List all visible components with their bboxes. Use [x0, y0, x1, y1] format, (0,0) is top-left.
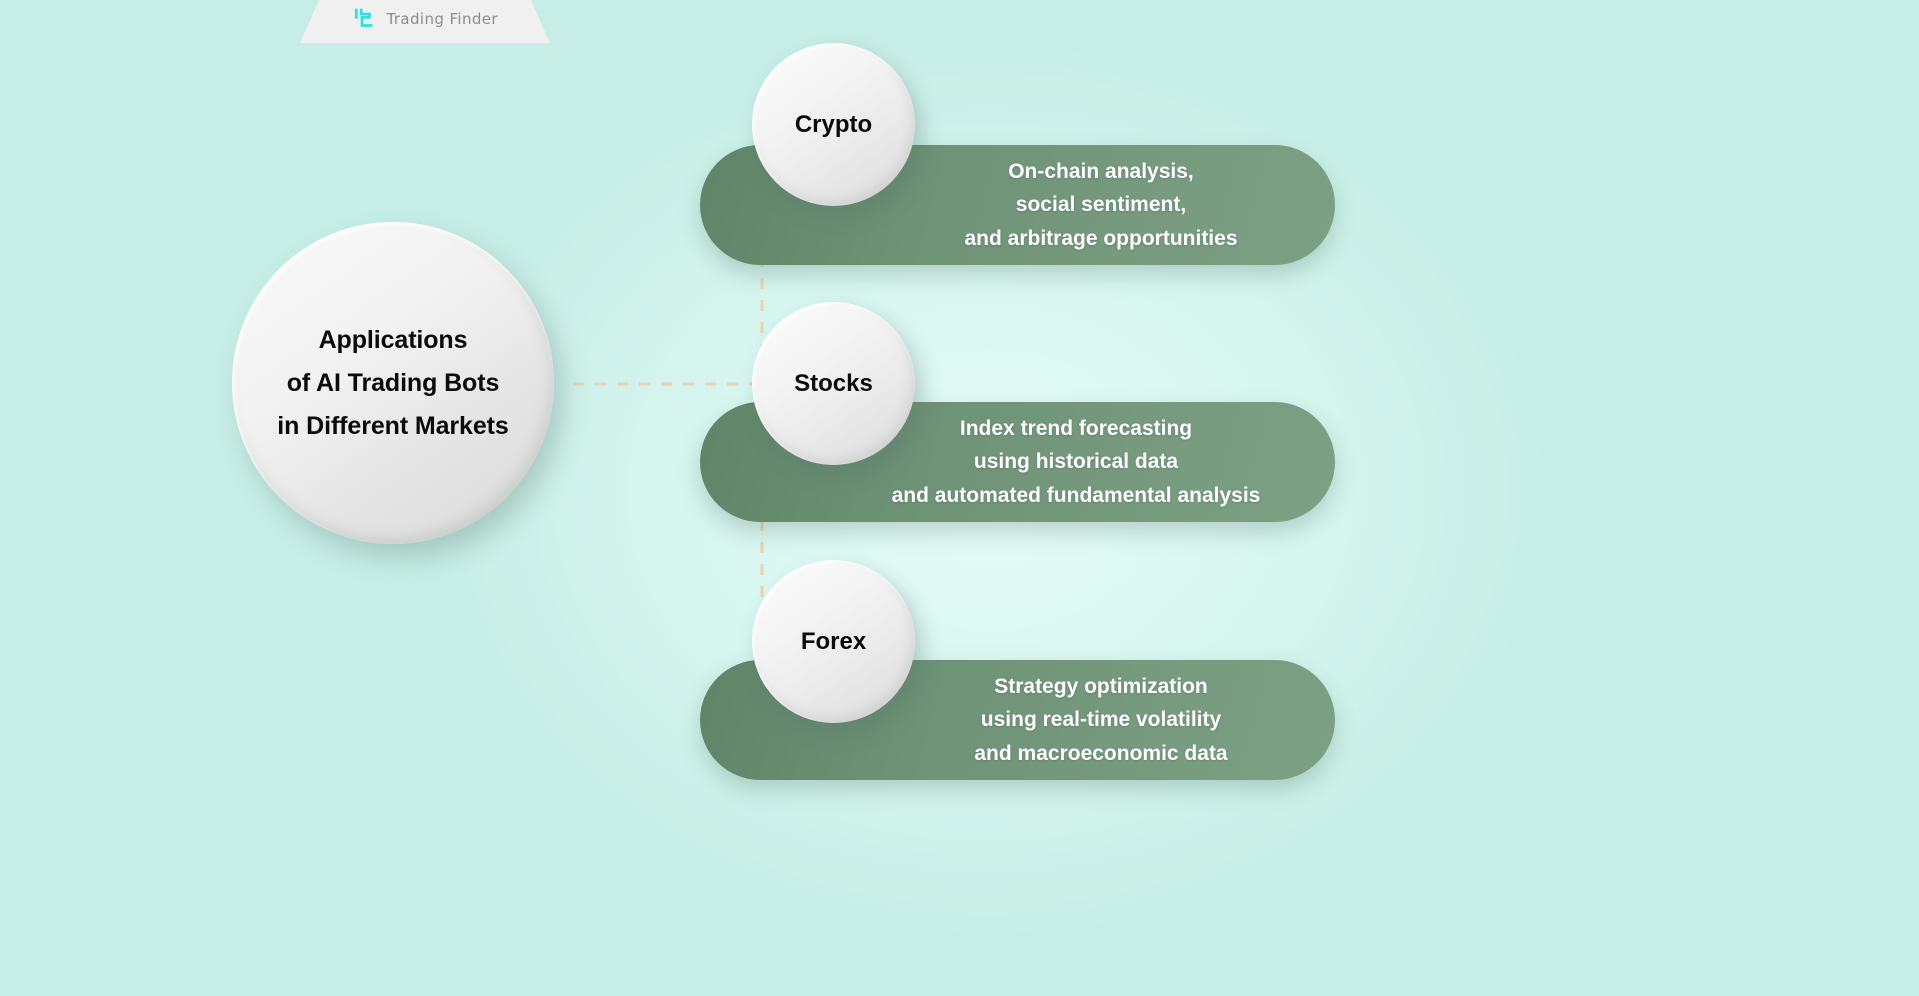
- trading-finder-logo-icon: [352, 6, 378, 32]
- node-forex-label: Forex: [801, 628, 866, 656]
- hub-circle[interactable]: Applications of AI Trading Bots in Diffe…: [232, 222, 554, 544]
- stocks-description-line-2: using historical data: [851, 445, 1301, 478]
- stocks-description-line-3: and automated fundamental analysis: [851, 479, 1301, 512]
- node-crypto-label: Crypto: [795, 111, 872, 139]
- node-forex[interactable]: Forex: [752, 560, 915, 723]
- brand-name: Trading Finder: [387, 10, 499, 28]
- hub-line-3: in Different Markets: [277, 412, 508, 441]
- hub-line-1: Applications: [319, 326, 468, 355]
- crypto-description: On-chain analysis, social sentiment, and…: [901, 155, 1301, 255]
- stocks-description: Index trend forecasting using historical…: [851, 412, 1301, 512]
- crypto-description-line-3: and arbitrage opportunities: [901, 222, 1301, 255]
- node-stocks-label: Stocks: [794, 370, 873, 398]
- infographic-canvas: Trading Finder Applications of AI Tradin…: [0, 0, 1919, 996]
- forex-description-line-3: and macroeconomic data: [901, 737, 1301, 770]
- forex-description-line-2: using real-time volatility: [901, 703, 1301, 736]
- hub-line-2: of AI Trading Bots: [287, 369, 500, 398]
- node-crypto[interactable]: Crypto: [752, 43, 915, 206]
- node-stocks[interactable]: Stocks: [752, 302, 915, 465]
- forex-description: Strategy optimization using real-time vo…: [901, 670, 1301, 770]
- brand-tab[interactable]: Trading Finder: [300, 0, 550, 43]
- crypto-description-line-2: social sentiment,: [901, 188, 1301, 221]
- crypto-description-line-1: On-chain analysis,: [901, 155, 1301, 188]
- stocks-description-line-1: Index trend forecasting: [851, 412, 1301, 445]
- forex-description-line-1: Strategy optimization: [901, 670, 1301, 703]
